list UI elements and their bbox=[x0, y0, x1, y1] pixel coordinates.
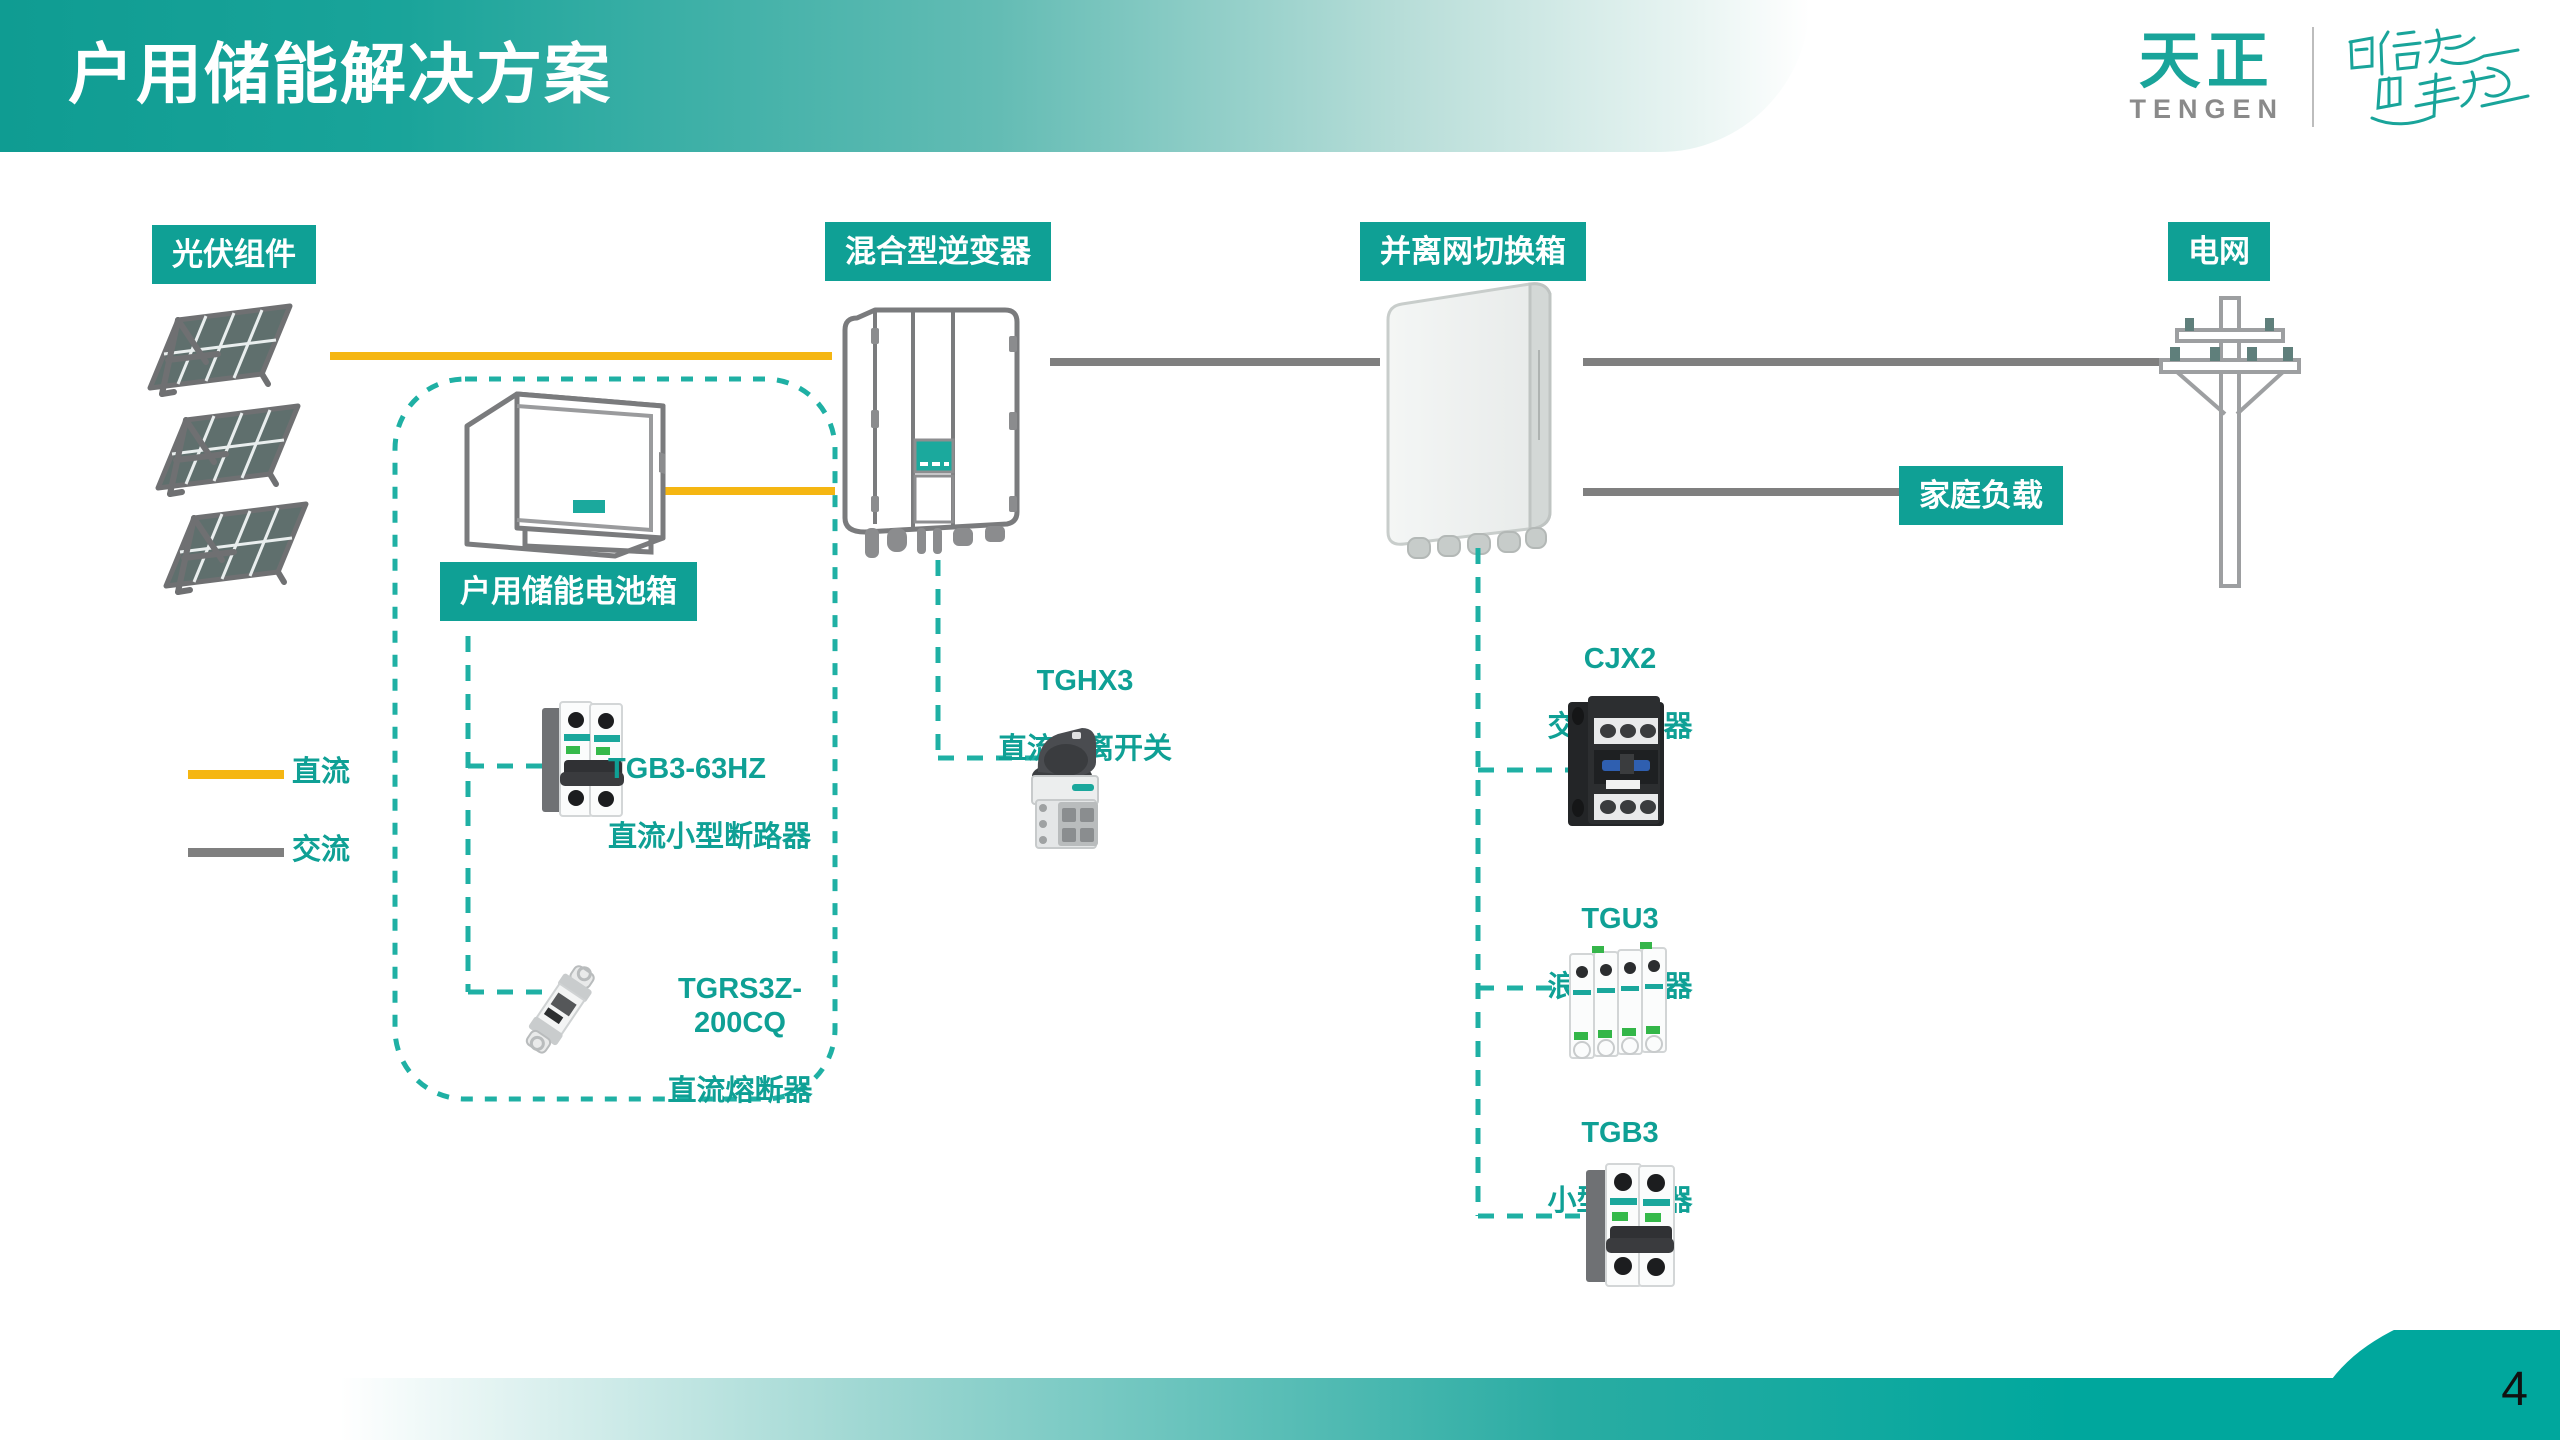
grid-switch-box-icon bbox=[1380, 280, 1580, 570]
logo-divider bbox=[2312, 27, 2314, 127]
footer-gradient-strip bbox=[340, 1378, 2560, 1440]
brand-logo: 天正 TENGEN bbox=[2129, 18, 2532, 136]
pv-panel-icon-1 bbox=[140, 300, 300, 400]
wire-dc-pv-to-battery bbox=[330, 352, 832, 360]
logo-english-name: TENGEN bbox=[2129, 94, 2284, 124]
legend-label-ac: 交流 bbox=[292, 836, 350, 865]
legend-swatch-dc bbox=[188, 770, 284, 779]
product-code: TGB3 bbox=[1581, 1117, 1658, 1149]
product-code: TGU3 bbox=[1581, 903, 1658, 935]
product-code: CJX2 bbox=[1584, 643, 1657, 675]
legend-swatch-ac bbox=[188, 848, 284, 857]
tag-home-load: 家庭负载 bbox=[1899, 466, 2063, 525]
product-label-tgb3-63hz: TGB3-63HZ 直流小型断路器 bbox=[608, 718, 878, 854]
spd-4pole-icon bbox=[1562, 942, 1677, 1067]
wire-ac-switchbox-to-home-load bbox=[1583, 488, 1899, 496]
rotary-isolator-icon bbox=[1010, 714, 1120, 854]
fuse-icon bbox=[500, 948, 620, 1068]
footer-bar bbox=[0, 1330, 2560, 1440]
legend-label-dc: 直流 bbox=[292, 758, 350, 787]
wire-ac-inverter-to-switchbox bbox=[1050, 358, 1380, 366]
utility-pole-icon bbox=[2155, 290, 2305, 590]
tag-hybrid-inverter: 混合型逆变器 bbox=[825, 222, 1051, 281]
product-label-tgrs3z-200cq: TGRS3Z- 200CQ 直流熔断器 bbox=[630, 938, 850, 1108]
product-code: TGHX3 bbox=[1037, 665, 1134, 697]
logo-chinese-name: 天正 bbox=[2139, 30, 2275, 94]
product-code: TGRS3Z- 200CQ bbox=[678, 973, 802, 1039]
page-title: 户用储能解决方案 bbox=[68, 22, 612, 126]
product-name: 直流熔断器 bbox=[667, 1075, 812, 1107]
product-name: 直流小型断路器 bbox=[608, 821, 811, 853]
tag-pv-modules: 光伏组件 bbox=[152, 225, 316, 284]
battery-cabinet-icon bbox=[455, 388, 670, 563]
product-code: TGB3-63HZ bbox=[608, 753, 766, 785]
tag-grid-switch-box: 并离网切换箱 bbox=[1360, 222, 1586, 281]
tag-battery-cabinet: 户用储能电池箱 bbox=[440, 562, 697, 621]
tag-power-grid: 电网 bbox=[2168, 222, 2270, 281]
logo-mark: 天正 TENGEN bbox=[2129, 30, 2284, 124]
slogan-handwriting-icon bbox=[2342, 22, 2532, 132]
pv-panel-icon-2 bbox=[148, 400, 308, 500]
hybrid-inverter-icon bbox=[835, 300, 1025, 560]
contactor-icon bbox=[1558, 690, 1678, 835]
mcb-2pole-icon-ac bbox=[1578, 1160, 1683, 1290]
wire-ac-switchbox-to-grid bbox=[1583, 358, 2186, 366]
slide-canvas: 户用储能解决方案 天正 TENGEN bbox=[0, 0, 2560, 1440]
page-number: 4 bbox=[2501, 1366, 2528, 1414]
pv-panel-icon-3 bbox=[156, 498, 316, 598]
